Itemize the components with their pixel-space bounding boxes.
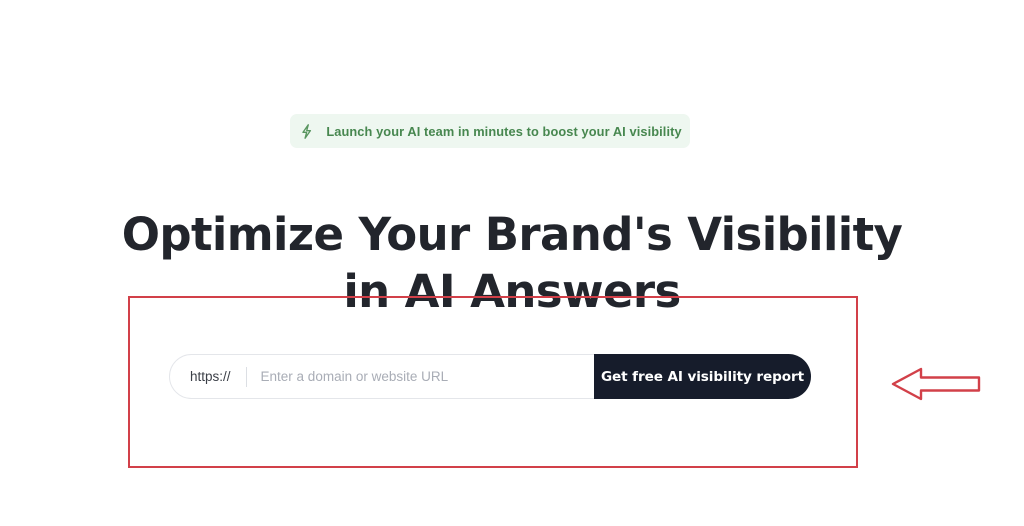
headline-line-2: in AI Answers xyxy=(0,263,1024,320)
hero-section: Launch your AI team in minutes to boost … xyxy=(0,0,1024,526)
url-scheme-prefix: https:// xyxy=(190,369,231,384)
announcement-badge[interactable]: Launch your AI team in minutes to boost … xyxy=(290,114,690,148)
page-title: Optimize Your Brand's Visibility in AI A… xyxy=(0,206,1024,320)
headline-line-1: Optimize Your Brand's Visibility xyxy=(0,206,1024,263)
lightning-bolt-icon xyxy=(298,123,315,140)
url-field-divider xyxy=(246,367,247,387)
url-input-wrapper[interactable]: https:// xyxy=(169,354,639,399)
annotation-arrow-icon xyxy=(890,363,982,405)
get-report-button[interactable]: Get free AI visibility report xyxy=(594,354,811,399)
domain-search-form: https:// Get free AI visibility report xyxy=(169,354,811,399)
domain-url-input[interactable] xyxy=(261,355,638,398)
announcement-badge-label: Launch your AI team in minutes to boost … xyxy=(326,124,681,139)
